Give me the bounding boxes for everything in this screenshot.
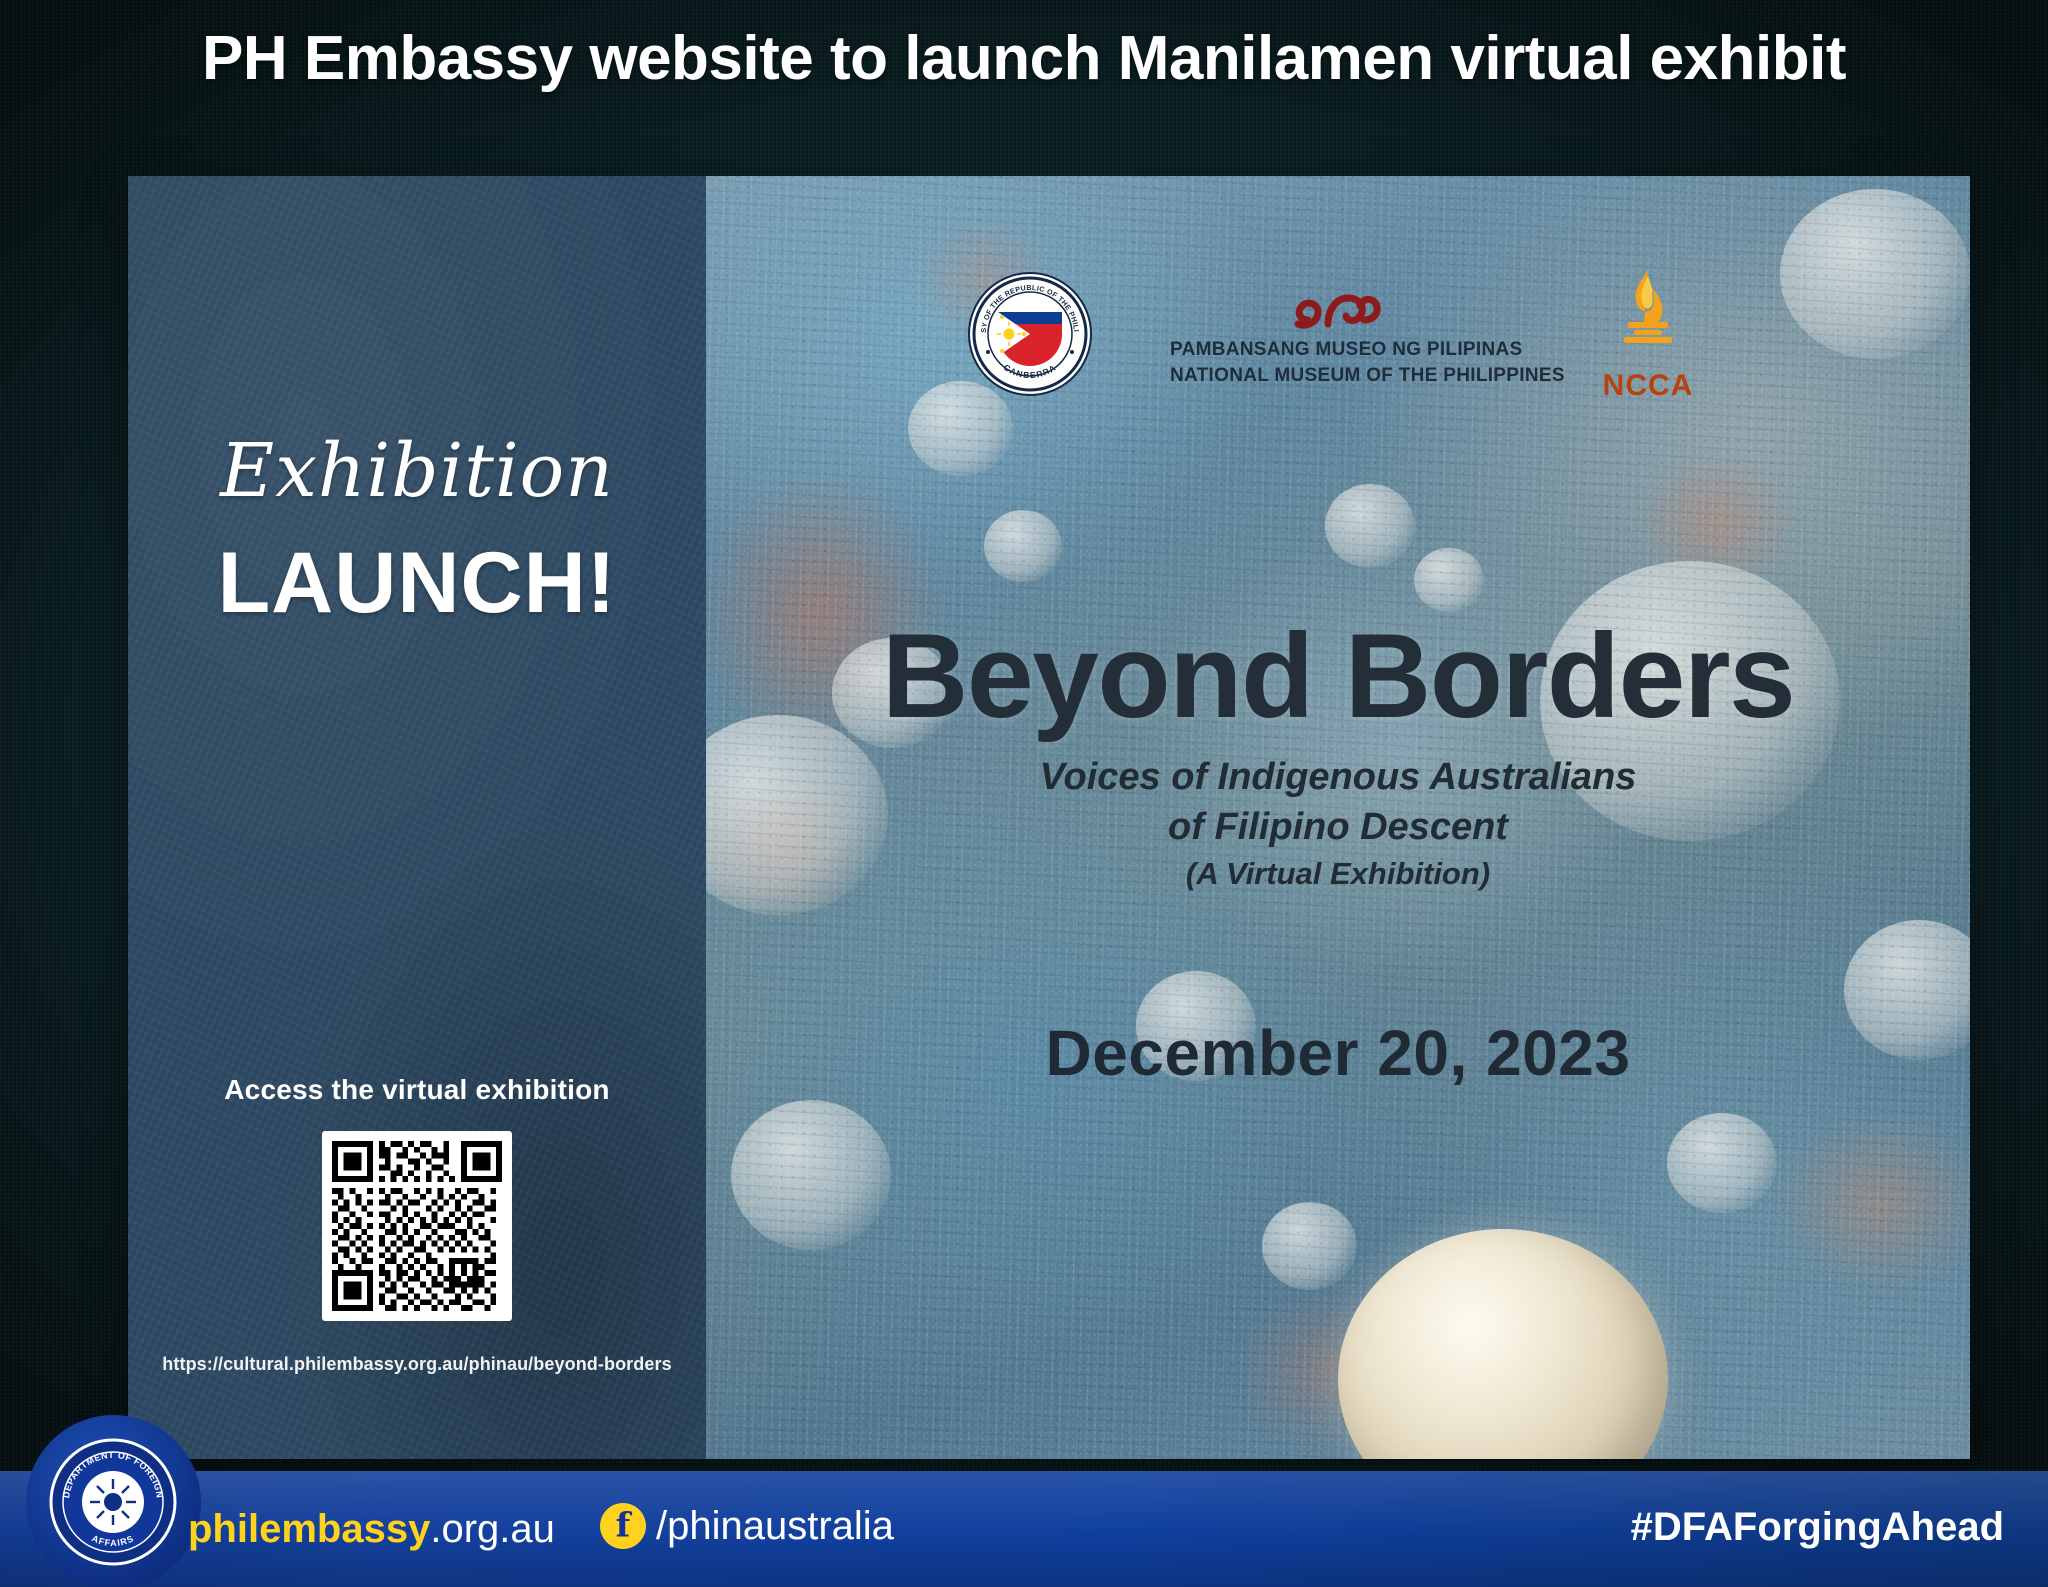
exhibition-title: Beyond Borders [706, 616, 1970, 736]
ncca-label: NCCA [1588, 369, 1708, 403]
exhibition-script-word: Exhibition [128, 428, 706, 514]
partner-logos-row: EMBASSY OF THE REPUBLIC OF THE PHILIPPIN… [706, 244, 1970, 424]
national-museum-of-the-philippines-logo: PAMBANSANG MUSEO NG PILIPINAS NATIONAL M… [1170, 279, 1510, 388]
page-title: PH Embassy website to launch Manilamen v… [0, 26, 2048, 91]
access-virtual-exhibition-label: Access the virtual exhibition [128, 1074, 706, 1106]
exhibition-date: December 20, 2023 [706, 1016, 1970, 1090]
facebook-icon[interactable]: f [600, 1503, 646, 1549]
exhibition-poster: Exhibition LAUNCH! Access the virtual ex… [128, 176, 1970, 1459]
poster-artwork-panel: EMBASSY OF THE REPUBLIC OF THE PHILIPPIN… [706, 176, 1970, 1459]
facebook-handle: /phinaustralia [656, 1504, 894, 1549]
dfa-seal-icon: DEPARTMENT OF FOREIGN AFFAIRS [26, 1415, 201, 1587]
exhibition-subtitle-line-1: Voices of Indigenous Australians [706, 756, 1970, 799]
exhibition-subtitle-line-2: of Filipino Descent [706, 806, 1970, 849]
embassy-seal-icon: EMBASSY OF THE REPUBLIC OF THE PHILIPPIN… [968, 272, 1092, 396]
website-address[interactable]: philembassy.org.au [188, 1507, 555, 1552]
exhibition-url[interactable]: https://cultural.philembassy.org.au/phin… [128, 1354, 706, 1375]
facebook-glyph: f [600, 1508, 646, 1542]
campaign-hashtag: #DFAForgingAhead [1631, 1505, 2004, 1550]
exhibition-subtitle-line-3: (A Virtual Exhibition) [706, 856, 1970, 892]
launch-word: LAUNCH! [128, 534, 706, 633]
ncca-logo: NCCA [1588, 266, 1708, 403]
museum-mark-icon [1170, 279, 1510, 337]
department-of-foreign-affairs-seal: DEPARTMENT OF FOREIGN AFFAIRS [26, 1415, 201, 1587]
footer-bar: DEPARTMENT OF FOREIGN AFFAIRS philembass… [0, 1471, 2048, 1587]
museum-name-english: NATIONAL MUSEUM OF THE PHILIPPINES [1170, 363, 1510, 389]
museum-swirl-icon [1270, 280, 1410, 336]
ncca-flame-icon [1598, 266, 1698, 362]
museum-name-filipino: PAMBANSANG MUSEO NG PILIPINAS [1170, 337, 1510, 363]
qr-code-icon [332, 1141, 502, 1311]
qr-code[interactable] [322, 1131, 512, 1321]
poster-left-panel: Exhibition LAUNCH! Access the virtual ex… [128, 176, 706, 1459]
facebook-link[interactable]: f /phinaustralia [600, 1503, 894, 1549]
website-brand: philembassy [188, 1507, 430, 1551]
embassy-of-the-republic-of-the-philippines-seal: EMBASSY OF THE REPUBLIC OF THE PHILIPPIN… [968, 272, 1092, 396]
page-background: PH Embassy website to launch Manilamen v… [0, 0, 2048, 1587]
website-tld: .org.au [430, 1507, 555, 1551]
